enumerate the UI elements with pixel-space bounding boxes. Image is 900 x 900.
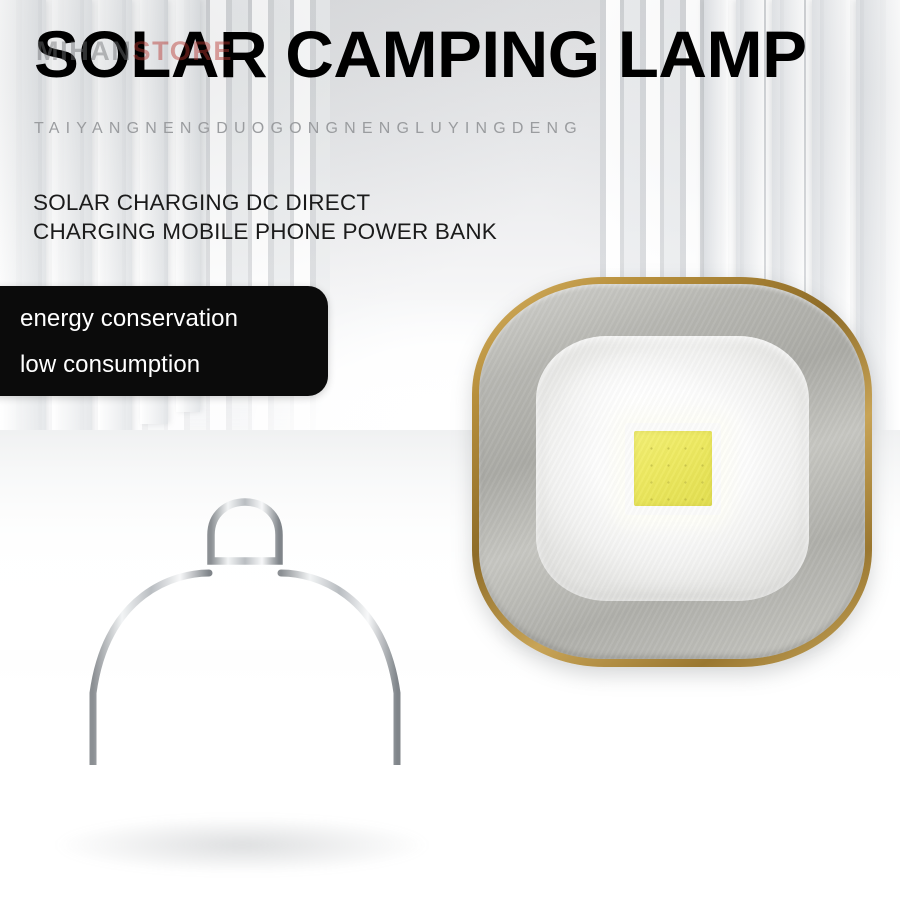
product-poster: SOLAR CAMPING LAMP MIHANSTORE TAIYANGNEN… (0, 0, 900, 900)
gold-outer-rim (472, 277, 872, 667)
feature-tag-low-consumption: low consumption (20, 352, 200, 378)
feature-tag-box: energy conservation low consumption (0, 286, 328, 396)
wire-handle (35, 465, 455, 765)
silver-bezel-ring (479, 284, 865, 659)
description-line-2: CHARGING MOBILE PHONE POWER BANK (33, 217, 497, 246)
solar-lamp-shadow (57, 817, 427, 873)
description-line-1: SOLAR CHARGING DC DIRECT (33, 188, 497, 217)
feature-tag-energy-conservation: energy conservation (20, 306, 238, 332)
solar-panel-lamp (35, 465, 455, 885)
white-diffuser-panel (536, 336, 809, 601)
poster-pinyin-subtitle: TAIYANGNENGDUOGONGNENGLUYINGDENG (34, 119, 583, 139)
handle-left-arm (93, 573, 209, 765)
cob-led-chip (634, 431, 712, 506)
front-facing-lamp (472, 277, 872, 667)
handle-top-loop (211, 502, 279, 561)
poster-title: SOLAR CAMPING LAMP (34, 18, 806, 90)
cob-led-mount (625, 423, 721, 515)
poster-description: SOLAR CHARGING DC DIRECT CHARGING MOBILE… (33, 188, 497, 246)
handle-right-arm (281, 573, 397, 765)
